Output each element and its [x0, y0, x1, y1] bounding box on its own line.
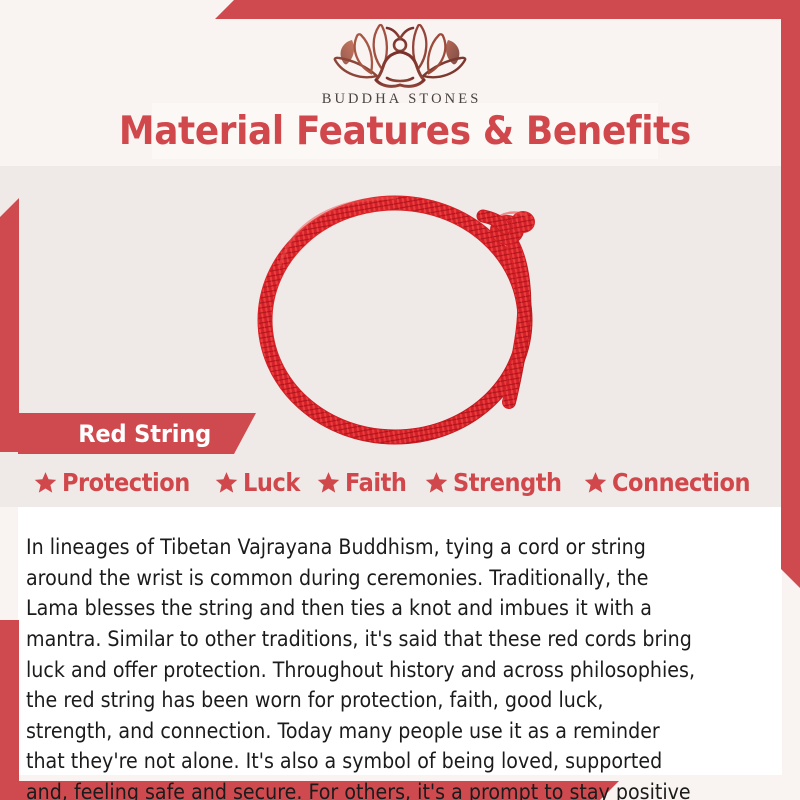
benefit-item: Protection: [30, 468, 208, 497]
benefit-item: Luck: [211, 468, 310, 497]
product-ribbon: Red String: [18, 413, 256, 454]
star-icon: [317, 471, 340, 494]
red-braided-cord-bracelet: [245, 160, 575, 450]
benefit-item: Strength: [421, 468, 578, 497]
ribbon-label: Red String: [78, 420, 211, 448]
benefit-item: Faith: [313, 468, 417, 497]
description-text: In lineages of Tibetan Vajrayana Buddhis…: [26, 533, 695, 800]
infographic-page: BUDDHA STONES Material Features & Benefi…: [0, 0, 800, 800]
star-icon: [425, 471, 448, 494]
decor-band-left-upper: [0, 198, 19, 452]
benefit-item: Connection: [580, 468, 769, 497]
benefit-label: Protection: [62, 468, 190, 497]
star-icon: [584, 471, 607, 494]
decor-band-left-lower: [0, 620, 19, 800]
brand-logo: BUDDHA STONES: [0, 16, 800, 108]
star-icon: [215, 471, 238, 494]
benefit-label: Connection: [612, 468, 750, 497]
benefits-row: Protection Luck Faith Strength Connectio…: [18, 462, 782, 502]
benefit-label: Strength: [453, 468, 562, 497]
title-banner: Material Features & Benefits: [152, 103, 658, 159]
page-title: Material Features & Benefits: [119, 109, 691, 154]
lotus-meditation-icon: [327, 16, 473, 88]
star-icon: [34, 471, 57, 494]
benefit-label: Faith: [345, 468, 406, 497]
benefit-label: Luck: [243, 468, 300, 497]
